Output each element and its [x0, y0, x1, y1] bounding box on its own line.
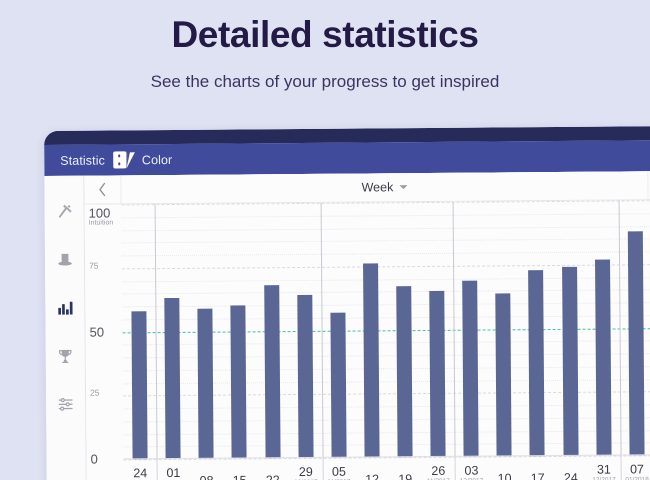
- chart-bar[interactable]: [363, 264, 380, 458]
- app-bar: Statistic Color: [44, 140, 650, 176]
- x-axis-day-label: 19: [388, 472, 422, 480]
- x-axis-tick: 17: [521, 471, 555, 480]
- appbar-statistic-label: Statistic: [60, 153, 105, 167]
- x-axis-day-label: 26: [421, 464, 455, 478]
- grid-line-minor: [122, 238, 650, 243]
- y-axis-title: Intuition: [89, 219, 114, 226]
- app-body: Week 0255075100Intuition 2409/20170110/2…: [44, 171, 650, 480]
- x-axis-tick: 19: [388, 472, 422, 480]
- chart-bar[interactable]: [330, 312, 346, 457]
- sidebar-item-achievements[interactable]: [46, 332, 85, 380]
- x-axis-tick: 0110/2017: [156, 466, 190, 480]
- x-axis-tick: 12: [355, 472, 389, 480]
- top-hat-icon: [55, 251, 73, 269]
- x-axis-tick: 08: [189, 474, 223, 480]
- x-axis-tick: 0701/2018: [620, 462, 650, 480]
- content-area: Week 0255075100Intuition 2409/20170110/2…: [84, 171, 650, 480]
- y-axis-tick-label: 50: [90, 325, 105, 338]
- trophy-icon: [57, 347, 74, 364]
- page-title: Detailed statistics: [0, 14, 650, 56]
- chart-toolbar: Week: [84, 171, 650, 205]
- x-axis-day-label: 07: [620, 462, 650, 476]
- chart-bar[interactable]: [529, 270, 545, 456]
- sidebar-item-magic-wand[interactable]: [44, 188, 83, 236]
- month-separator-axis: [455, 457, 456, 480]
- x-axis-tick: 3112/2017: [587, 462, 621, 480]
- x-axis-tick: 24: [554, 471, 588, 480]
- x-axis-tick: 0312/2017: [454, 464, 488, 480]
- x-axis-month-label: 01/2018: [620, 476, 650, 480]
- sidebar-item-settings[interactable]: [46, 380, 85, 428]
- sliders-icon: [57, 395, 74, 412]
- grid-line-minor: [122, 251, 650, 256]
- grid-line-minor: [122, 213, 650, 218]
- chart-bar[interactable]: [628, 231, 645, 456]
- x-axis: 2409/20170110/20170815222910/20170511/20…: [124, 454, 650, 480]
- chart-bar[interactable]: [198, 308, 214, 459]
- x-axis-day-label: 24: [554, 471, 588, 480]
- x-axis-tick: 0511/2017: [322, 465, 356, 480]
- bar-chart-icon: [56, 299, 74, 317]
- x-axis-tick: 2611/2017: [421, 464, 455, 480]
- x-axis-day-label: 24: [123, 466, 157, 480]
- month-separator-axis: [620, 455, 621, 480]
- x-axis-tick: 2910/2017: [289, 465, 323, 480]
- x-axis-month-label: 12/2017: [587, 476, 621, 480]
- chart-bar[interactable]: [131, 311, 147, 459]
- period-selector[interactable]: Week: [121, 178, 647, 196]
- month-separator-axis: [322, 458, 323, 480]
- appbar-color-label[interactable]: Color: [142, 152, 172, 166]
- chart-bar[interactable]: [496, 293, 512, 456]
- chevron-left-icon: [96, 181, 108, 197]
- promo-page: Detailed statistics See the charts of yo…: [0, 0, 650, 480]
- previous-period-button[interactable]: [84, 175, 121, 203]
- x-axis-day-label: 22: [256, 473, 290, 480]
- chart-bar[interactable]: [297, 295, 313, 458]
- x-axis-day-label: 08: [189, 474, 223, 480]
- page-subtitle: See the charts of your progress to get i…: [0, 72, 650, 92]
- x-axis-day-label: 31: [587, 462, 621, 476]
- domino-slash-icon: [126, 152, 134, 168]
- sidebar-item-statistics[interactable]: [45, 284, 84, 332]
- chart-bar[interactable]: [264, 285, 280, 459]
- sidebar-item-top-hat[interactable]: [45, 236, 84, 284]
- period-label: Week: [362, 180, 394, 194]
- month-separator-axis: [157, 459, 158, 480]
- x-axis-day-label: 03: [454, 464, 488, 478]
- chart-bar[interactable]: [231, 305, 247, 458]
- x-axis-day-label: 29: [289, 465, 323, 479]
- x-axis-tick: 2409/2017: [123, 466, 157, 480]
- domino-icon[interactable]: [113, 151, 126, 168]
- app-window: Statistic Color: [44, 126, 650, 480]
- magic-wand-icon: [56, 203, 73, 220]
- chart-bar[interactable]: [429, 291, 445, 457]
- chart-bar[interactable]: [396, 286, 412, 457]
- chevron-down-icon: [399, 185, 407, 189]
- x-axis-day-label: 15: [223, 473, 257, 480]
- chart-bar[interactable]: [462, 281, 478, 457]
- x-axis-tick: 10: [488, 471, 522, 480]
- x-axis-day-label: 17: [521, 471, 555, 480]
- y-axis-tick-label: 100: [89, 206, 111, 219]
- chart-bar[interactable]: [562, 267, 578, 456]
- y-axis-tick-label: 75: [89, 261, 99, 270]
- plot-region: 0255075100Intuition: [122, 200, 650, 459]
- x-axis-tick: 22: [256, 473, 290, 480]
- x-axis-day-label: 10: [488, 471, 522, 480]
- x-axis-day-label: 05: [322, 465, 356, 479]
- grid-line-minor: [122, 225, 650, 230]
- chart-bar[interactable]: [595, 259, 612, 455]
- y-axis-tick-label: 0: [91, 453, 98, 466]
- x-axis-day-label: 12: [355, 472, 389, 480]
- chart: 0255075100Intuition 2409/20170110/201708…: [85, 200, 650, 480]
- chart-bar[interactable]: [164, 298, 180, 459]
- x-axis-day-label: 01: [156, 466, 190, 480]
- x-axis-tick: 15: [223, 473, 257, 480]
- y-axis-tick-label: 25: [90, 389, 100, 398]
- sidebar: [44, 176, 86, 480]
